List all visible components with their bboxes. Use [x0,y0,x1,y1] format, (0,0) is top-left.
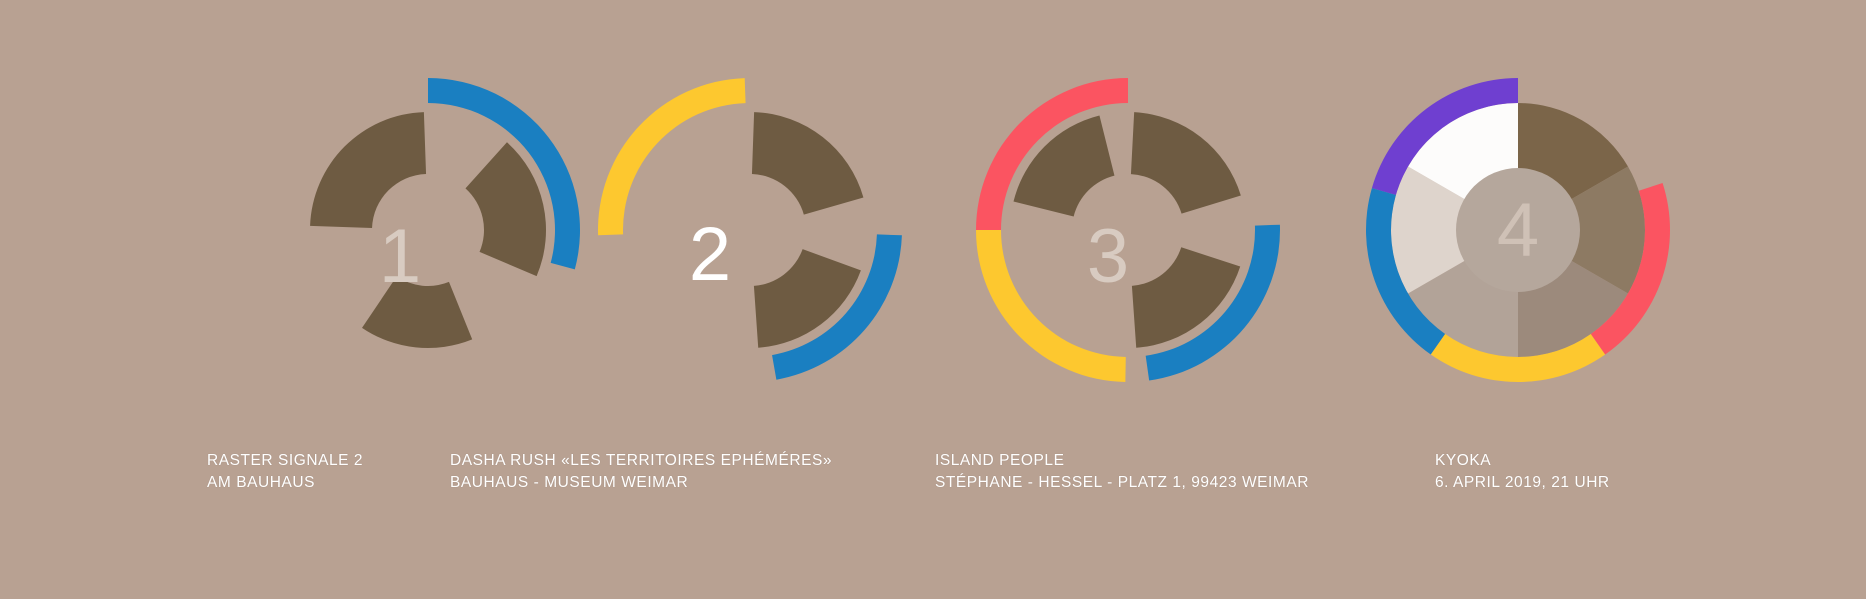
circle-graphic-1-svg: 1 [258,60,598,400]
caption-dasha-rush: DASHA RUSH «LES TERRITOIRES EPHÉMÉRES» B… [450,450,832,494]
graphic-1-wedges [310,112,546,348]
graphic-2-arcs [598,78,902,380]
circle-graphic-4-svg: 4 [1348,60,1688,400]
poster-canvas: 1 2 3 4 RASTER SIGNALE 2 AM BAUHAUS DASH… [0,0,1866,599]
caption-3-line-2: STÉPHANE - HESSEL - PLATZ 1, 99423 WEIMA… [935,472,1309,494]
brown-wedge-upper-right [752,112,863,214]
caption-4-line-2: 6. APRIL 2019, 21 UHR [1435,472,1610,494]
caption-2-line-1: DASHA RUSH «LES TERRITOIRES EPHÉMÉRES» [450,450,832,472]
caption-kyoka: KYOKA 6. APRIL 2019, 21 UHR [1435,450,1610,494]
graphic-2-numeral: 2 [689,212,731,297]
brown-wedge-upper-left [310,112,426,228]
caption-1-line-1: RASTER SIGNALE 2 [207,450,363,472]
caption-4-line-1: KYOKA [1435,450,1610,472]
circle-graphic-1[interactable]: 1 [258,60,598,400]
graphic-4-numeral: 4 [1497,188,1539,273]
circle-graphic-2-svg: 2 [580,60,920,400]
brown-wedge-right [465,142,546,276]
brown-wedge-upper-right [1131,112,1241,213]
graphic-3-numeral: 3 [1087,214,1129,299]
circle-graphic-4[interactable]: 4 [1348,60,1688,400]
circle-graphic-3-svg: 3 [958,60,1298,400]
caption-raster-signale: RASTER SIGNALE 2 AM BAUHAUS [207,450,363,494]
caption-1-line-2: AM BAUHAUS [207,472,363,494]
graphic-1-numeral: 1 [379,214,421,299]
caption-island-people: ISLAND PEOPLE STÉPHANE - HESSEL - PLATZ … [935,450,1309,494]
caption-2-line-2: BAUHAUS - MUSEUM WEIMAR [450,472,832,494]
circle-graphic-3[interactable]: 3 [958,60,1298,400]
circle-graphic-2[interactable]: 2 [580,60,920,400]
caption-3-line-1: ISLAND PEOPLE [935,450,1309,472]
